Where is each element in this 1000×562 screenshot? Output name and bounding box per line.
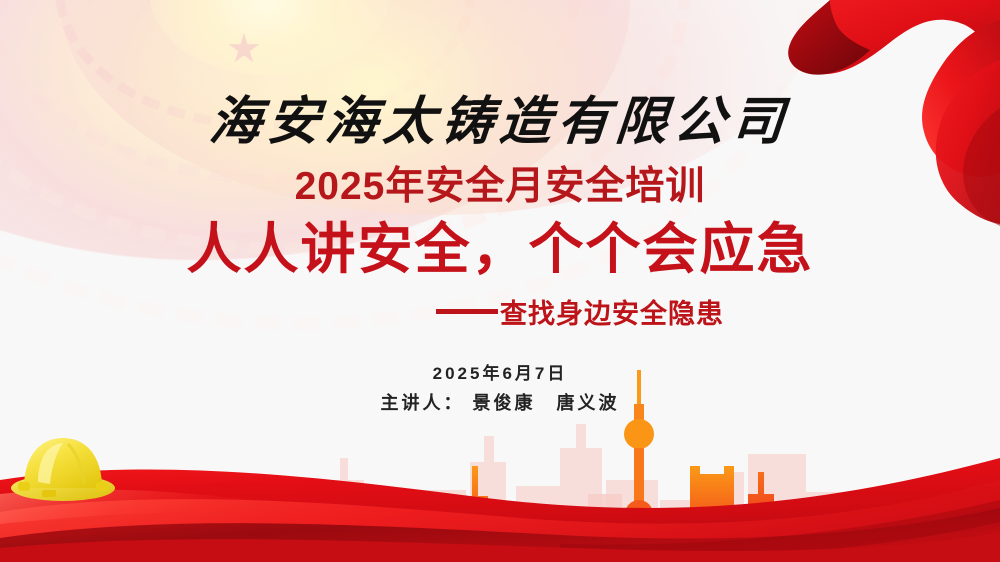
tagline-row: 查找身边安全隐患 <box>0 292 1000 331</box>
yellow-safety-helmet-icon <box>8 426 118 504</box>
presentation-slide: 海安海太铸造有限公司 2025年安全月安全培训 人人讲安全，个个会应急 查找身边… <box>0 0 1000 562</box>
em-dash-icon <box>436 309 498 314</box>
company-title: 海安海太铸造有限公司 <box>0 79 1000 154</box>
bottom-scene-group <box>0 362 1000 562</box>
main-slogan: 人人讲安全，个个会应急 <box>0 204 1000 284</box>
tagline-text: 查找身边安全隐患 <box>500 292 724 331</box>
training-subtitle: 2025年安全月安全培训 <box>0 155 1000 211</box>
